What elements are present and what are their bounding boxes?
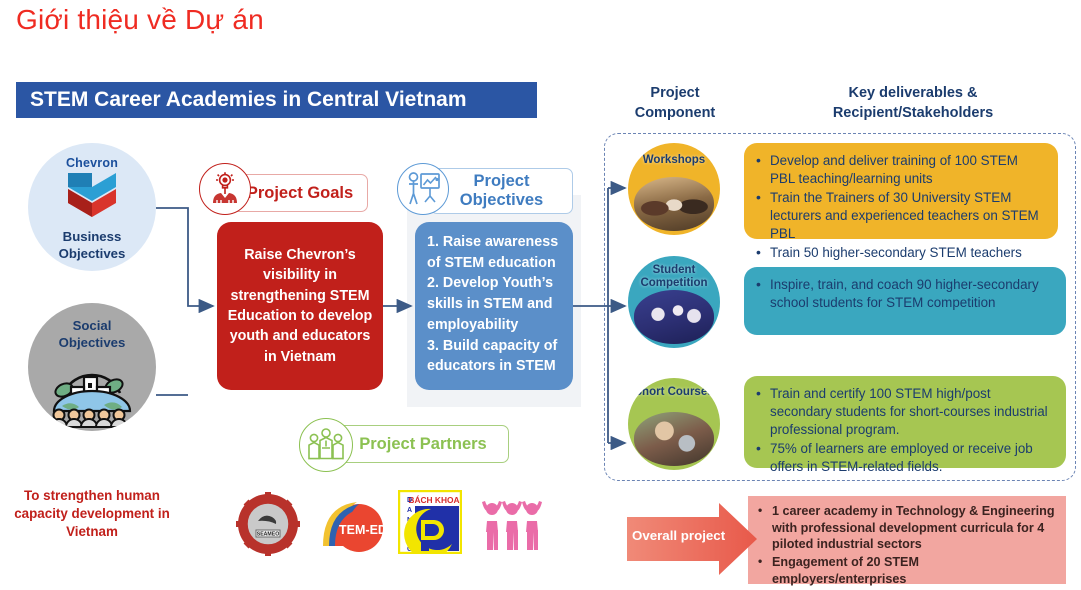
project-partners-pill: Project Partners (337, 425, 509, 463)
chevron-logo-icon (66, 171, 118, 226)
social-objectives-circle: Social Objectives (28, 303, 156, 431)
component-circle-short-courses: Short Courses (628, 378, 720, 470)
project-objectives-list: 1. Raise awareness of STEM education 2. … (427, 232, 563, 377)
overall-project-list: 1 career academy in Technology & Enginee… (756, 503, 1056, 590)
section-banner: STEM Career Academies in Central Vietnam (16, 82, 537, 118)
business-objectives-label: Business Objectives (59, 229, 126, 262)
project-objectives-label: Project Objectives (460, 172, 543, 210)
sustainable-city-icon (40, 353, 144, 431)
deliverables-workshops: Develop and deliver training of 100 STEM… (744, 143, 1058, 239)
deliverable-item: Train and certify 100 STEM high/post sec… (754, 385, 1052, 439)
deliverables-short-courses: Train and certify 100 STEM high/post sec… (744, 376, 1066, 468)
deliverable-item: Develop and deliver training of 100 STEM… (754, 152, 1044, 188)
column-header-key-deliverables: Key deliverables & Recipient/Stakeholder… (748, 84, 1078, 123)
bach-khoa-danang-logo: BÁCH KHOA D A N A N G (398, 490, 462, 554)
womens-union-logo (478, 496, 554, 552)
project-goals-box: Raise Chevron’s visibility in strengthen… (217, 222, 383, 390)
svg-text:A: A (407, 507, 412, 514)
stem-ed-logo: TEM-ED (317, 496, 391, 554)
chevron-wordmark: Chevron (66, 156, 118, 170)
banner-label: STEM Career Academies in Central Vietnam (16, 88, 467, 112)
deliverable-item: Train 50 higher-secondary STEM teachers (754, 244, 1044, 262)
deliverables-list-workshops: Develop and deliver training of 100 STEM… (754, 152, 1044, 262)
overall-project-box: 1 career academy in Technology & Enginee… (748, 496, 1066, 584)
column-header-deliver-line1: Key deliverables & (748, 84, 1078, 104)
objective-item: 3. Build capacity of educators in STEM (427, 336, 563, 377)
svg-text:D: D (407, 497, 412, 504)
component-label-short-courses: Short Courses (634, 386, 713, 399)
presenter-board-icon (397, 163, 449, 215)
deliverables-list-student-competition: Inspire, train, and coach 90 higher-seco… (754, 276, 1052, 312)
project-goals-text: Raise Chevron’s visibility in strengthen… (227, 245, 373, 367)
column-header-deliver-line2: Recipient/Stakeholders (748, 104, 1078, 124)
page-title: Giới thiệu về Dự án (16, 4, 264, 36)
svg-text:BÁCH KHOA: BÁCH KHOA (408, 494, 459, 505)
component-label-workshops: Workshops (643, 154, 705, 167)
objective-item: 1. Raise awareness of STEM education (427, 232, 563, 273)
deliverables-list-short-courses: Train and certify 100 STEM high/post sec… (754, 385, 1052, 476)
svg-text:SEAMEO: SEAMEO (257, 532, 279, 538)
column-header-component-line2: Component (612, 104, 738, 124)
project-objectives-pill: Project Objectives (430, 168, 573, 214)
lightbulb-person-icon (199, 163, 251, 215)
social-objectives-label: Social Objectives (59, 318, 126, 351)
deliverable-item: Inspire, train, and coach 90 higher-seco… (754, 276, 1052, 312)
project-partners-label: Project Partners (359, 435, 486, 454)
project-objectives-box: 1. Raise awareness of STEM education 2. … (415, 222, 573, 390)
short-course-lab-photo (634, 412, 714, 466)
column-header-component-line1: Project (612, 84, 738, 104)
svg-text:TEM-ED: TEM-ED (339, 523, 387, 537)
component-label-student-competition: Student Competition (640, 264, 707, 290)
column-header-project-component: Project Component (612, 84, 738, 123)
objective-item: 2. Develop Youth’s skills in STEM and em… (427, 273, 563, 335)
slide-canvas: Giới thiệu về Dự án STEM Career Academie… (0, 0, 1081, 590)
component-circle-workshops: Workshops (628, 143, 720, 235)
overall-item: 1 career academy in Technology & Enginee… (756, 503, 1056, 553)
overall-project-label: Overall project (632, 528, 725, 543)
seameo-logo: SEAMEO (236, 492, 300, 556)
deliverable-item: 75% of learners are employed or receive … (754, 440, 1052, 476)
deliverables-student-competition: Inspire, train, and coach 90 higher-seco… (744, 267, 1066, 335)
project-goals-pill: Project Goals (232, 174, 368, 212)
business-objectives-circle: Chevron Business Objectives (28, 143, 156, 271)
student-competition-photo (634, 290, 714, 344)
three-people-icon (299, 418, 353, 472)
social-caption: To strengthen human capacity development… (4, 487, 180, 540)
workshop-students-photo (634, 177, 714, 231)
deliverable-item: Train the Trainers of 30 University STEM… (754, 189, 1044, 243)
component-circle-student-competition: Student Competition (628, 256, 720, 348)
overall-item: Engagement of 20 STEM employers/enterpri… (756, 554, 1056, 587)
project-goals-label: Project Goals (247, 184, 353, 203)
